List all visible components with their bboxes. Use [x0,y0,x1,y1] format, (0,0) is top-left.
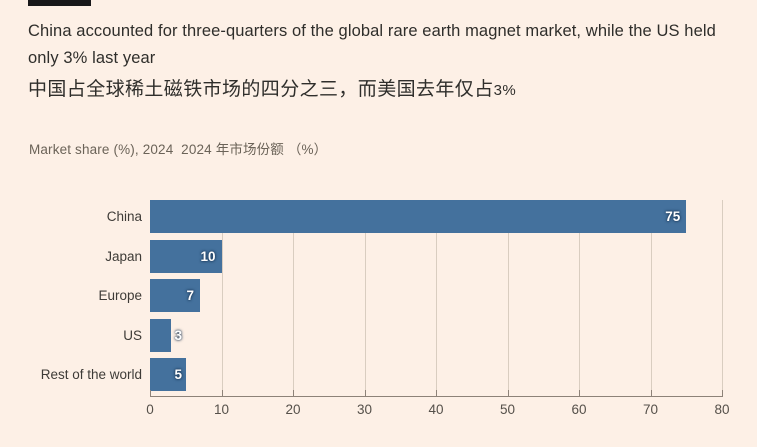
x-tick-mark [222,390,223,397]
bar-value-label: 5 [154,358,182,391]
category-label: Japan [105,240,142,273]
page-title-chinese-percent: 3% [494,82,516,99]
x-tick-label: 30 [357,402,372,417]
x-tick-mark [651,390,652,397]
gridline [722,200,723,396]
bar-value-label: 3 [154,319,182,352]
brand-rule-icon [28,0,91,6]
x-tick-mark [436,390,437,397]
x-tick-mark [579,390,580,397]
category-label: Rest of the world [41,358,142,391]
x-tick-mark [365,390,366,397]
category-label: Europe [98,279,142,312]
bar-value-label: 7 [166,279,194,312]
page-title: China accounted for three-quarters of th… [28,18,734,72]
x-tick-label: 70 [643,402,658,417]
x-tick-label: 0 [146,402,154,417]
x-tick-mark [722,390,723,397]
category-label: China [107,200,142,233]
x-tick-mark [508,390,509,397]
bar-chart: 7510735 01020304050607080 ChinaJapanEuro… [0,178,757,428]
x-tick-mark [150,390,151,397]
chart-page: China accounted for three-quarters of th… [0,0,757,447]
plot-area: 7510735 [150,200,722,396]
x-tick-label: 10 [214,402,229,417]
chart-subtitle: Market share (%), 2024 2024 年市场份额 （%） [29,138,327,158]
x-tick-label: 60 [571,402,586,417]
page-title-chinese: 中国占全球稀土磁铁市场的四分之三，而美国去年仅占3% [28,76,734,104]
bar-value-label: 75 [652,200,680,233]
bar[interactable] [150,200,686,233]
bar-value-label: 10 [188,240,216,273]
x-tick-label: 50 [500,402,515,417]
x-tick-label: 80 [714,402,729,417]
x-tick-label: 20 [285,402,300,417]
page-title-chinese-main: 中国占全球稀土磁铁市场的四分之三，而美国去年仅占 [28,79,494,100]
category-label: US [123,319,142,352]
x-tick-label: 40 [428,402,443,417]
x-tick-mark [293,390,294,397]
